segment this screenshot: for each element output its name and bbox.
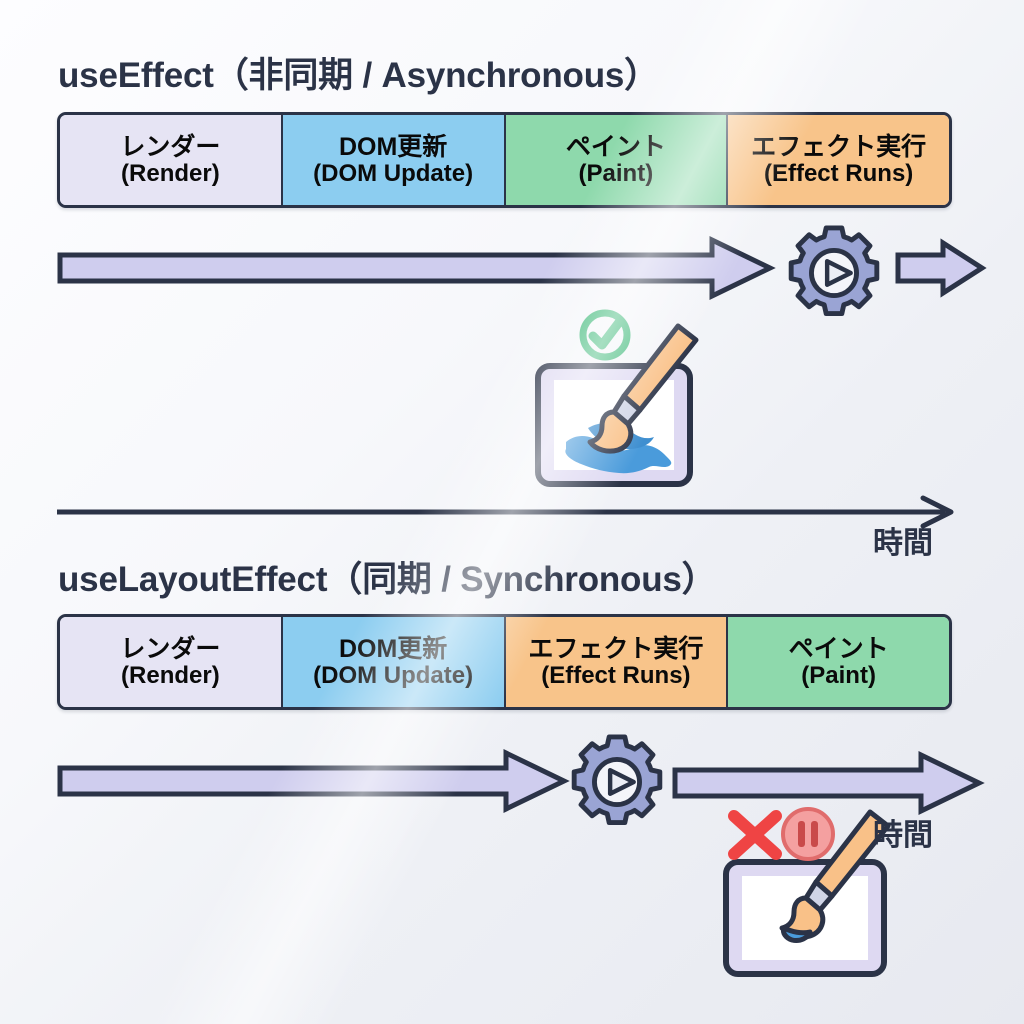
phase-label-en: (Render) bbox=[121, 161, 220, 188]
phase-segment-effect-runs[interactable]: エフェクト実行 (Effect Runs) bbox=[506, 617, 729, 707]
pause-circle-icon bbox=[783, 809, 833, 859]
phase-label-en: (Effect Runs) bbox=[764, 161, 913, 188]
phase-label-ja: DOM更新 bbox=[339, 635, 447, 663]
time-axis-arrow-icon bbox=[57, 498, 957, 528]
phase-bar-use-effect: レンダー (Render) DOM更新 (DOM Update) ペイント (P… bbox=[57, 112, 952, 208]
phase-segment-dom-update[interactable]: DOM更新 (DOM Update) bbox=[283, 115, 506, 205]
diagram-canvas: useEffect（非同期 / Asynchronous） レンダー (Rend… bbox=[0, 0, 1024, 1024]
phase-label-ja: エフェクト実行 bbox=[751, 133, 926, 161]
phase-label-ja: レンダー bbox=[120, 133, 220, 161]
phase-label-en: (Paint) bbox=[801, 663, 876, 690]
check-circle-icon bbox=[583, 313, 627, 357]
phase-label-ja: レンダー bbox=[120, 635, 220, 663]
section-title-use-effect: useEffect（非同期 / Asynchronous） bbox=[58, 47, 659, 98]
phase-bar-use-layout-effect: レンダー (Render) DOM更新 (DOM Update) エフェクト実行… bbox=[57, 614, 952, 710]
section-title-use-layout-effect: useLayoutEffect（同期 / Synchronous） bbox=[58, 551, 717, 602]
phase-label-en: (DOM Update) bbox=[313, 161, 473, 188]
paint-illustration-allowed bbox=[528, 306, 718, 491]
phase-segment-dom-update[interactable]: DOM更新 (DOM Update) bbox=[283, 617, 506, 707]
x-mark-icon bbox=[734, 816, 776, 854]
phase-label-ja: ペイント bbox=[566, 133, 666, 161]
phase-segment-render[interactable]: レンダー (Render) bbox=[60, 617, 283, 707]
phase-label-ja: DOM更新 bbox=[339, 133, 447, 161]
phase-segment-paint[interactable]: ペイント (Paint) bbox=[728, 617, 949, 707]
gear-play-icon[interactable] bbox=[568, 733, 666, 831]
phase-label-ja: ペイント bbox=[789, 635, 889, 663]
phase-label-en: (DOM Update) bbox=[313, 663, 473, 690]
time-axis-label: 時間 bbox=[873, 810, 933, 854]
phase-segment-paint[interactable]: ペイント (Paint) bbox=[506, 115, 729, 205]
flow-arrow-icon bbox=[57, 750, 567, 812]
phase-segment-render[interactable]: レンダー (Render) bbox=[60, 115, 283, 205]
phase-label-en: (Effect Runs) bbox=[541, 663, 690, 690]
phase-segment-effect-runs[interactable]: エフェクト実行 (Effect Runs) bbox=[728, 115, 949, 205]
time-axis-label: 時間 bbox=[873, 518, 933, 562]
flow-arrow-icon bbox=[57, 237, 773, 299]
gear-play-icon[interactable] bbox=[785, 224, 883, 322]
phase-label-en: (Render) bbox=[121, 663, 220, 690]
flow-arrow-continuation-icon bbox=[895, 240, 985, 296]
phase-label-en: (Paint) bbox=[579, 161, 654, 188]
phase-label-ja: エフェクト実行 bbox=[528, 635, 703, 663]
